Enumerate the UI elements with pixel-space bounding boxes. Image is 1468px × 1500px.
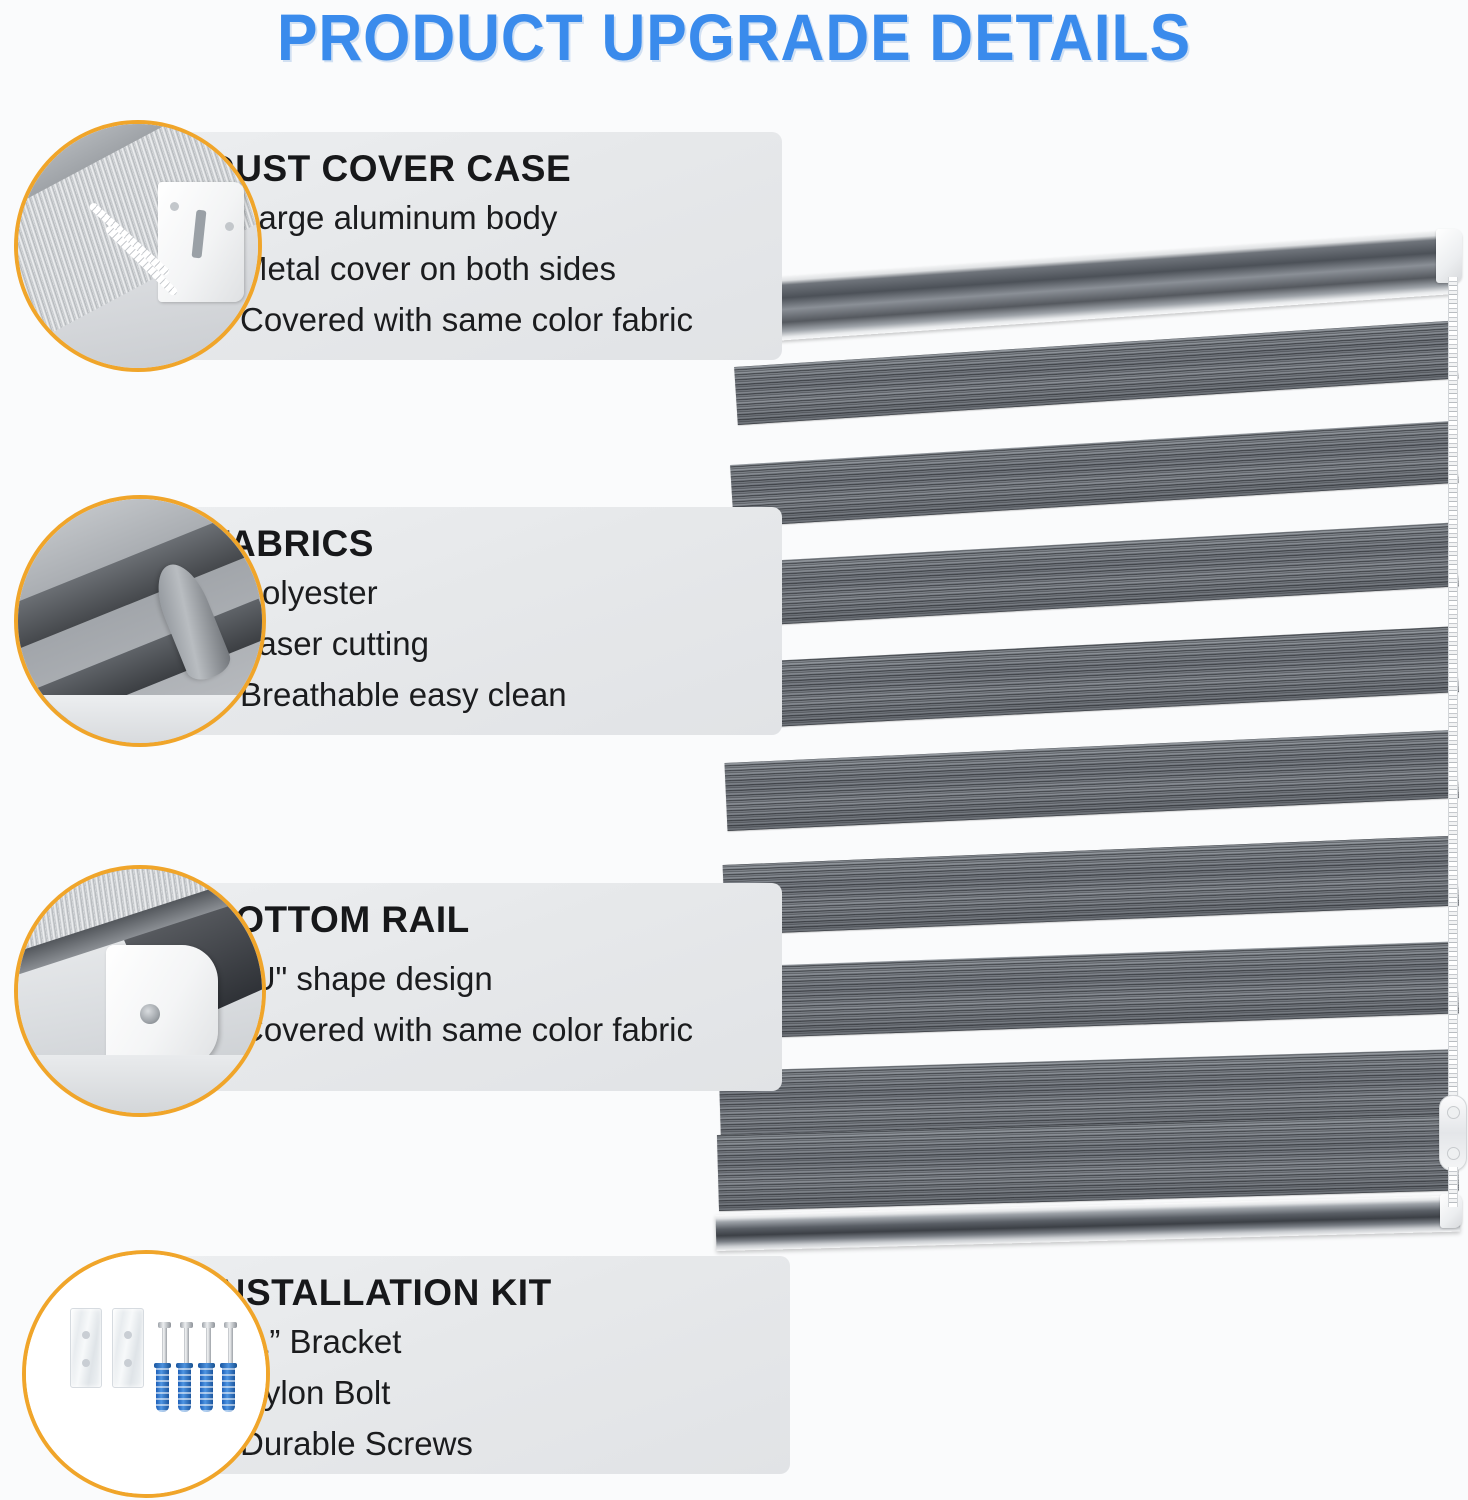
bullet-text: Durable Screws [240, 1425, 473, 1462]
nylon-bolt [156, 1366, 169, 1412]
l-bracket [70, 1308, 102, 1388]
bullet-text: Metal cover on both sides [240, 250, 616, 287]
bracket-hole [82, 1359, 90, 1367]
chain-connector[interactable] [1439, 1095, 1467, 1171]
feature-title: INSTALLATION KIT [208, 1274, 766, 1313]
bullet-text: Large aluminum body [240, 199, 557, 236]
bracket-hole [82, 1331, 90, 1339]
l-bracket [112, 1308, 144, 1388]
list-item: “L” Bracket [208, 1325, 766, 1358]
page-title: PRODUCT UPGRADE DETAILS [59, 0, 1410, 70]
photo-scene [18, 124, 258, 368]
fabric-band [721, 941, 1459, 1039]
feature-title: DUST COVER CASE [208, 150, 758, 189]
nylon-bolt [222, 1366, 235, 1412]
list-item: "U" shape design [208, 962, 758, 995]
feature-bullet-list: “L” Bracket Nylon Bolt Durable Screws [208, 1325, 766, 1460]
feature-dust-cover-case: DUST COVER CASE Large aluminum body Meta… [0, 120, 800, 375]
end-cap-screw [140, 1004, 160, 1024]
bullet-text: Breathable easy clean [240, 676, 567, 713]
bracket-hole [124, 1359, 132, 1367]
photo-scene [26, 1254, 266, 1494]
table-surface [18, 695, 266, 747]
list-item: Breathable easy clean [208, 678, 758, 711]
bullet-text: Covered with same color fabric [240, 301, 693, 338]
fabric-band [726, 626, 1458, 729]
dust-cover-case-photo [14, 120, 262, 372]
bottom-rail-photo [14, 865, 266, 1117]
feature-bullet-list: Large aluminum body Metal cover on both … [208, 201, 758, 336]
fabric-band [728, 522, 1458, 627]
cover-screw [225, 222, 234, 231]
table-surface [18, 1055, 266, 1117]
list-item: Laser cutting [208, 627, 758, 660]
list-item: Large aluminum body [208, 201, 758, 234]
list-item: Nylon Bolt [208, 1376, 766, 1409]
photo-scene [18, 869, 262, 1113]
bracket-hole [124, 1331, 132, 1339]
bullet-text: Laser cutting [240, 625, 429, 662]
fabrics-photo [14, 495, 266, 747]
durable-screw [184, 1326, 189, 1368]
installation-kit-photo [22, 1250, 270, 1498]
durable-screw [206, 1326, 211, 1368]
rail-end-cap [106, 945, 218, 1067]
list-item: Covered with same color fabric [208, 303, 758, 336]
infographic-page: PRODUCT UPGRADE DETAILS DUST COVER CASE … [0, 0, 1468, 1500]
list-item: Metal cover on both sides [208, 252, 758, 285]
list-item: Durable Screws [208, 1427, 766, 1460]
bullet-text: "U" shape design [240, 960, 493, 997]
feature-bullet-list: Polyester Laser cutting Breathable easy … [208, 576, 758, 711]
feature-bullet-list: "U" shape design Covered with same color… [208, 962, 758, 1046]
list-item: Covered with same color fabric [208, 1013, 758, 1046]
bead-chain-lower[interactable] [1448, 1167, 1458, 1207]
durable-screw [228, 1326, 233, 1368]
feature-title: BOTTOM RAIL [208, 901, 758, 940]
bead-chain[interactable] [1448, 277, 1458, 1107]
feature-installation-kit: INSTALLATION KIT “L” Bracket Nylon Bolt … [0, 1250, 810, 1500]
photo-scene [18, 499, 262, 743]
durable-screw [162, 1326, 167, 1368]
feature-fabrics: FABRICS Polyester Laser cutting Breathab… [0, 495, 800, 750]
list-item: Polyester [208, 576, 758, 609]
fabric-band [730, 421, 1458, 527]
feature-title: FABRICS [208, 525, 758, 564]
fabric-band [724, 730, 1458, 831]
cover-screw [170, 202, 179, 211]
bullet-text: Covered with same color fabric [240, 1011, 693, 1048]
nylon-bolt [200, 1366, 213, 1412]
feature-bottom-rail: BOTTOM RAIL "U" shape design Covered wit… [0, 865, 800, 1120]
nylon-bolt [178, 1366, 191, 1412]
headrail-endcap [1436, 229, 1462, 283]
fabric-band [723, 836, 1459, 935]
product-image-zebra-blind [700, 215, 1468, 1285]
